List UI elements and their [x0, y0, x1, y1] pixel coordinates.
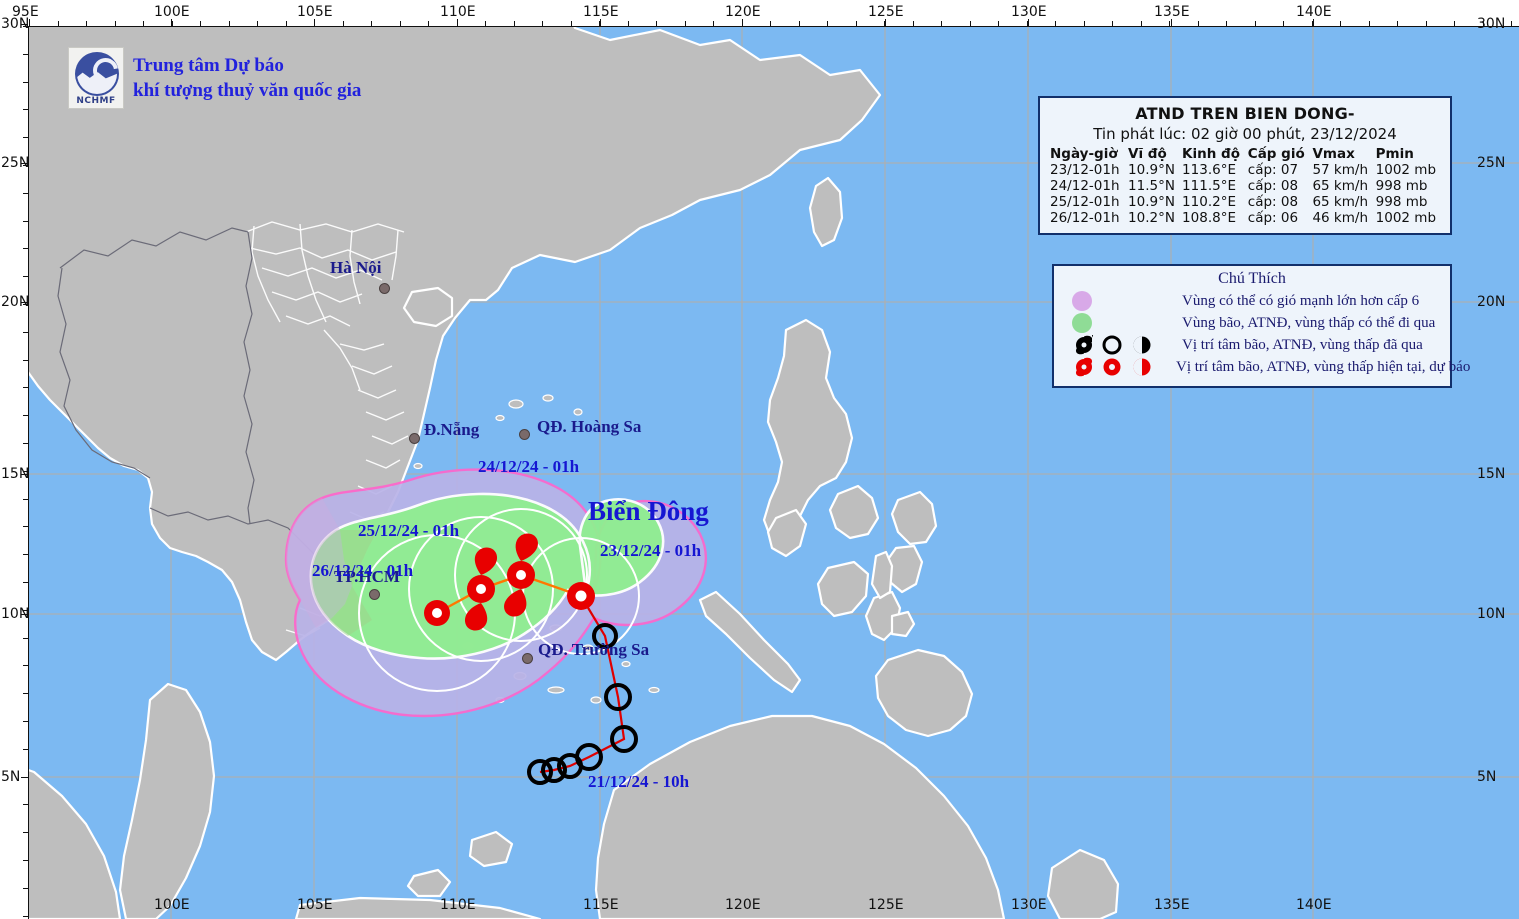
lon-minor-tick [1397, 21, 1398, 26]
lon-minor-tick [998, 21, 999, 26]
lon-minor-tick [1340, 21, 1341, 26]
lon-minor-tick [799, 21, 800, 26]
lon-minor-tick [485, 21, 486, 26]
lat-minor-tick [23, 916, 28, 917]
lat-minor-tick [23, 248, 28, 249]
forecast-cell-pmin: 998 mb [1374, 178, 1442, 194]
lat-minor-tick [23, 888, 28, 889]
panel-title: ATND TREN BIEN DONG- [1048, 104, 1442, 123]
lat-minor-tick [23, 582, 28, 583]
lon-minor-tick [400, 21, 401, 26]
legend-label-wind-zone: Vùng có thể có gió mạnh lớn hơn cấp 6 [1182, 293, 1419, 310]
lat-minor-tick [23, 360, 28, 361]
lat-minor-tick [23, 276, 28, 277]
forecast-col-header: Ngày-giờ [1048, 146, 1126, 162]
lon-minor-tick [542, 21, 543, 26]
lat-minor-tick [23, 165, 28, 166]
lat-minor-tick [23, 610, 28, 611]
legend-label-current-positions: Vị trí tâm bão, ATNĐ, vùng thấp hiện tại… [1176, 359, 1470, 376]
legend-symbol-black-group [1062, 335, 1174, 355]
forecast-cell-lat: 10.9°N [1126, 194, 1180, 210]
forecast-cell-pmin: 1002 mb [1374, 210, 1442, 226]
forecast-cell-datetime: 23/12-01h [1048, 162, 1126, 178]
lat-minor-tick [23, 304, 28, 305]
forecast-cell-lat: 10.2°N [1126, 210, 1180, 226]
legend-label-past-positions: Vị trí tâm bão, ATNĐ, vùng thấp đã qua [1182, 337, 1423, 354]
organization-name: Trung tâm Dự báo khí tượng thuỷ văn quốc… [133, 53, 361, 103]
forecast-marker-23-12 [567, 582, 595, 610]
forecast-cell-lon: 111.5°E [1180, 178, 1246, 194]
forecast-cell-datetime: 24/12-01h [1048, 178, 1126, 194]
nchmf-logo-icon: NCHMF [68, 47, 124, 109]
forecast-cell-lon: 113.6°E [1180, 162, 1246, 178]
city-marker-dot [522, 653, 533, 664]
lat-minor-tick [23, 721, 28, 722]
forecast-table: Ngày-giờVĩ độKinh độCấp gióVmaxPmin 23/1… [1048, 146, 1442, 226]
forecast-cell-pmin: 998 mb [1374, 194, 1442, 210]
lon-minor-tick [1198, 21, 1199, 26]
lon-minor-tick [1312, 21, 1313, 26]
track-date-label: 21/12/24 - 10h [588, 772, 689, 792]
lon-tick-label: 140E [1296, 4, 1332, 20]
lon-minor-tick [656, 21, 657, 26]
lat-minor-tick [23, 443, 28, 444]
forecast-cell-vmax: 65 km/h [1310, 194, 1373, 210]
lon-tick-label-bottom: 115E [583, 897, 619, 913]
lon-minor-tick [514, 21, 515, 26]
cebu-island [872, 552, 892, 598]
lat-minor-tick [23, 54, 28, 55]
forecast-cell-cap: cấp: 07 [1246, 162, 1311, 178]
forecast-cell-datetime: 25/12-01h [1048, 194, 1126, 210]
city-marker-dot [379, 283, 390, 294]
lon-tick-mark [600, 19, 601, 26]
lon-minor-tick [941, 21, 942, 26]
lat-minor-tick [23, 221, 28, 222]
lat-minor-tick [23, 137, 28, 138]
lat-tick-mark [21, 163, 28, 164]
lat-minor-tick [23, 109, 28, 110]
lat-tick-mark [21, 24, 28, 25]
lon-minor-tick [428, 21, 429, 26]
lon-minor-tick [1112, 21, 1113, 26]
panel-issued-time: Tin phát lúc: 02 giờ 00 phút, 23/12/2024 [1048, 125, 1442, 143]
lat-minor-tick [23, 499, 28, 500]
lon-minor-tick [685, 21, 686, 26]
forecast-col-header: Pmin [1374, 146, 1442, 162]
forecast-cell-vmax: 65 km/h [1310, 178, 1373, 194]
lat-minor-tick [23, 693, 28, 694]
legend-title: Chú Thích [1062, 270, 1442, 288]
red-storm-icons [1072, 357, 1168, 377]
lon-minor-tick [571, 21, 572, 26]
purple-circle-icon [1072, 291, 1092, 311]
lat-tick-label: 5N [1, 769, 20, 785]
lon-tick-label: 100E [154, 4, 190, 20]
lon-tick-label: 110E [440, 4, 476, 20]
forecast-cell-vmax: 46 km/h [1310, 210, 1373, 226]
forecast-marker-26-12 [424, 600, 450, 626]
lon-minor-tick [200, 21, 201, 26]
lon-tick-label-bottom: 120E [725, 897, 761, 913]
lon-tick-label-bottom: 135E [1154, 897, 1190, 913]
storm-forecast-map: 95E100E105E110E115E120E125E130E135E140E … [0, 0, 1519, 919]
lon-minor-tick [1055, 21, 1056, 26]
legend-symbol-green-circle [1062, 313, 1174, 333]
forecast-cell-cap: cấp: 08 [1246, 178, 1311, 194]
lat-minor-tick [23, 554, 28, 555]
lon-tick-label-bottom: 100E [154, 897, 190, 913]
forecast-table-header: Ngày-giờVĩ độKinh độCấp gióVmaxPmin [1048, 146, 1442, 162]
lon-tick-mark [885, 19, 886, 26]
lat-tick-label-right: 5N [1477, 769, 1496, 785]
lon-minor-tick [1511, 21, 1512, 26]
lon-tick-label-bottom: 140E [1296, 897, 1332, 913]
organization-line-1: Trung tâm Dự báo [133, 53, 361, 78]
city-label: Đ.Nẵng [424, 420, 479, 440]
lat-minor-tick [23, 665, 28, 666]
lon-tick-mark [1171, 19, 1172, 26]
lat-minor-tick [23, 832, 28, 833]
legend-item-wind-zone: Vùng có thể có gió mạnh lớn hơn cấp 6 [1062, 290, 1442, 312]
lon-minor-tick [713, 21, 714, 26]
forecast-cell-pmin: 1002 mb [1374, 162, 1442, 178]
lat-minor-tick [23, 415, 28, 416]
organization-line-2: khí tượng thuỷ văn quốc gia [133, 78, 361, 103]
lat-minor-tick [23, 860, 28, 861]
lon-minor-tick [1255, 21, 1256, 26]
legend-item-past-positions: Vị trí tâm bão, ATNĐ, vùng thấp đã qua [1062, 334, 1442, 356]
lat-minor-tick [23, 471, 28, 472]
lon-minor-tick [1426, 21, 1427, 26]
lon-minor-tick [172, 21, 173, 26]
lon-minor-tick [343, 21, 344, 26]
forecast-col-header: Vmax [1310, 146, 1373, 162]
lat-minor-tick [23, 82, 28, 83]
forecast-cell-datetime: 26/12-01h [1048, 210, 1126, 226]
lon-tick-label: 115E [583, 4, 619, 20]
lon-tick-label-bottom: 110E [440, 897, 476, 913]
lat-minor-tick [23, 332, 28, 333]
city-label: QĐ. Trường Sa [538, 640, 649, 660]
lon-minor-tick [286, 21, 287, 26]
forecast-table-row: 24/12-01h11.5°N111.5°Ecấp: 0865 km/h998 … [1048, 178, 1442, 194]
lat-tick-label-right: 30N [1477, 16, 1505, 32]
lon-tick-label: 125E [868, 4, 904, 20]
forecast-info-panel: ATND TREN BIEN DONG- Tin phát lúc: 02 gi… [1038, 96, 1452, 235]
lat-tick-label-right: 10N [1477, 606, 1505, 622]
city-label: QĐ. Hoàng Sa [537, 417, 641, 437]
lon-minor-tick [742, 21, 743, 26]
forecast-cell-lon: 108.8°E [1180, 210, 1246, 226]
lat-minor-tick [23, 638, 28, 639]
lat-minor-tick [23, 777, 28, 778]
forecast-col-header: Kinh độ [1180, 146, 1246, 162]
legend-symbol-purple-circle [1062, 291, 1174, 311]
lon-minor-tick [1226, 21, 1227, 26]
legend-symbol-red-group [1062, 357, 1168, 377]
lon-tick-label: 105E [297, 4, 333, 20]
lon-tick-label-bottom: 105E [297, 897, 333, 913]
lat-tick-label-right: 25N [1477, 155, 1505, 171]
logo-caption: NCHMF [69, 96, 123, 106]
frame-line-top [28, 26, 1519, 27]
lon-minor-tick [970, 21, 971, 26]
lon-minor-tick [913, 21, 914, 26]
lon-minor-tick [143, 21, 144, 26]
lon-minor-tick [770, 21, 771, 26]
forecast-cell-lon: 110.2°E [1180, 194, 1246, 210]
lon-minor-tick [58, 21, 59, 26]
legend-item-current-positions: Vị trí tâm bão, ATNĐ, vùng thấp hiện tại… [1062, 356, 1442, 378]
track-date-label: 26/12/24 - 01h [312, 561, 413, 581]
forecast-table-body: 23/12-01h10.9°N113.6°Ecấp: 0757 km/h1002… [1048, 162, 1442, 226]
lat-minor-tick [23, 26, 28, 27]
lon-minor-tick [1027, 21, 1028, 26]
lon-minor-tick [599, 21, 600, 26]
lat-tick-mark [21, 614, 28, 615]
lon-minor-tick [1141, 21, 1142, 26]
lon-minor-tick [229, 21, 230, 26]
lon-minor-tick [314, 21, 315, 26]
lon-minor-tick [1369, 21, 1370, 26]
forecast-cell-lat: 11.5°N [1126, 178, 1180, 194]
city-marker-dot [409, 433, 420, 444]
lon-minor-tick [884, 21, 885, 26]
lat-minor-tick [23, 193, 28, 194]
lat-minor-tick [23, 804, 28, 805]
legend-item-passage-zone: Vùng bão, ATNĐ, vùng thấp có thể đi qua [1062, 312, 1442, 334]
track-date-label: 23/12/24 - 01h [600, 541, 701, 561]
lon-minor-tick [1169, 21, 1170, 26]
lon-minor-tick [457, 21, 458, 26]
track-date-label: 25/12/24 - 01h [358, 521, 459, 541]
lat-tick-label-right: 20N [1477, 294, 1505, 310]
forecast-cell-cap: cấp: 06 [1246, 210, 1311, 226]
forecast-cell-lat: 10.9°N [1126, 162, 1180, 178]
legend-panel: Chú Thích Vùng có thể có gió mạnh lớn hơ… [1052, 264, 1452, 388]
forecast-table-row: 26/12-01h10.2°N108.8°Ecấp: 0646 km/h1002… [1048, 210, 1442, 226]
lon-minor-tick [115, 21, 116, 26]
lon-minor-tick [371, 21, 372, 26]
lon-minor-tick [1283, 21, 1284, 26]
lon-minor-tick [628, 21, 629, 26]
track-date-label: 24/12/24 - 01h [478, 457, 579, 477]
lon-tick-label: 120E [725, 4, 761, 20]
nchmf-logo-block: NCHMF Trung tâm Dự báo khí tượng thuỷ vă… [68, 47, 361, 109]
lon-minor-tick [1084, 21, 1085, 26]
city-label: Hà Nội [330, 258, 381, 278]
city-marker-dot [519, 429, 530, 440]
lat-minor-tick [23, 526, 28, 527]
lat-minor-tick [23, 387, 28, 388]
lon-tick-label-bottom: 130E [1011, 897, 1047, 913]
lon-tick-mark [1028, 19, 1029, 26]
forecast-col-header: Vĩ độ [1126, 146, 1180, 162]
lon-minor-tick [86, 21, 87, 26]
black-storm-icons [1072, 335, 1168, 355]
forecast-cell-cap: cấp: 08 [1246, 194, 1311, 210]
forecast-col-header: Cấp gió [1246, 146, 1311, 162]
lon-minor-tick [257, 21, 258, 26]
lon-tick-label: 135E [1154, 4, 1190, 20]
lon-tick-label-bottom: 125E [868, 897, 904, 913]
lat-minor-tick [23, 749, 28, 750]
legend-label-passage-zone: Vùng bão, ATNĐ, vùng thấp có thể đi qua [1182, 315, 1435, 332]
forecast-table-row: 23/12-01h10.9°N113.6°Ecấp: 0757 km/h1002… [1048, 162, 1442, 178]
lon-tick-label: 130E [1011, 4, 1047, 20]
lon-minor-tick [856, 21, 857, 26]
lat-tick-mark [21, 474, 28, 475]
forecast-cell-vmax: 57 km/h [1310, 162, 1373, 178]
lon-minor-tick [1454, 21, 1455, 26]
lon-minor-tick [827, 21, 828, 26]
green-circle-icon [1072, 313, 1092, 333]
lat-tick-label-right: 15N [1477, 466, 1505, 482]
lat-tick-mark [21, 302, 28, 303]
lon-tick-mark [1313, 19, 1314, 26]
forecast-table-row: 25/12-01h10.9°N110.2°Ecấp: 0865 km/h998 … [1048, 194, 1442, 210]
sea-name-label: Biển Đông [588, 496, 709, 527]
city-marker-dot [369, 589, 380, 600]
